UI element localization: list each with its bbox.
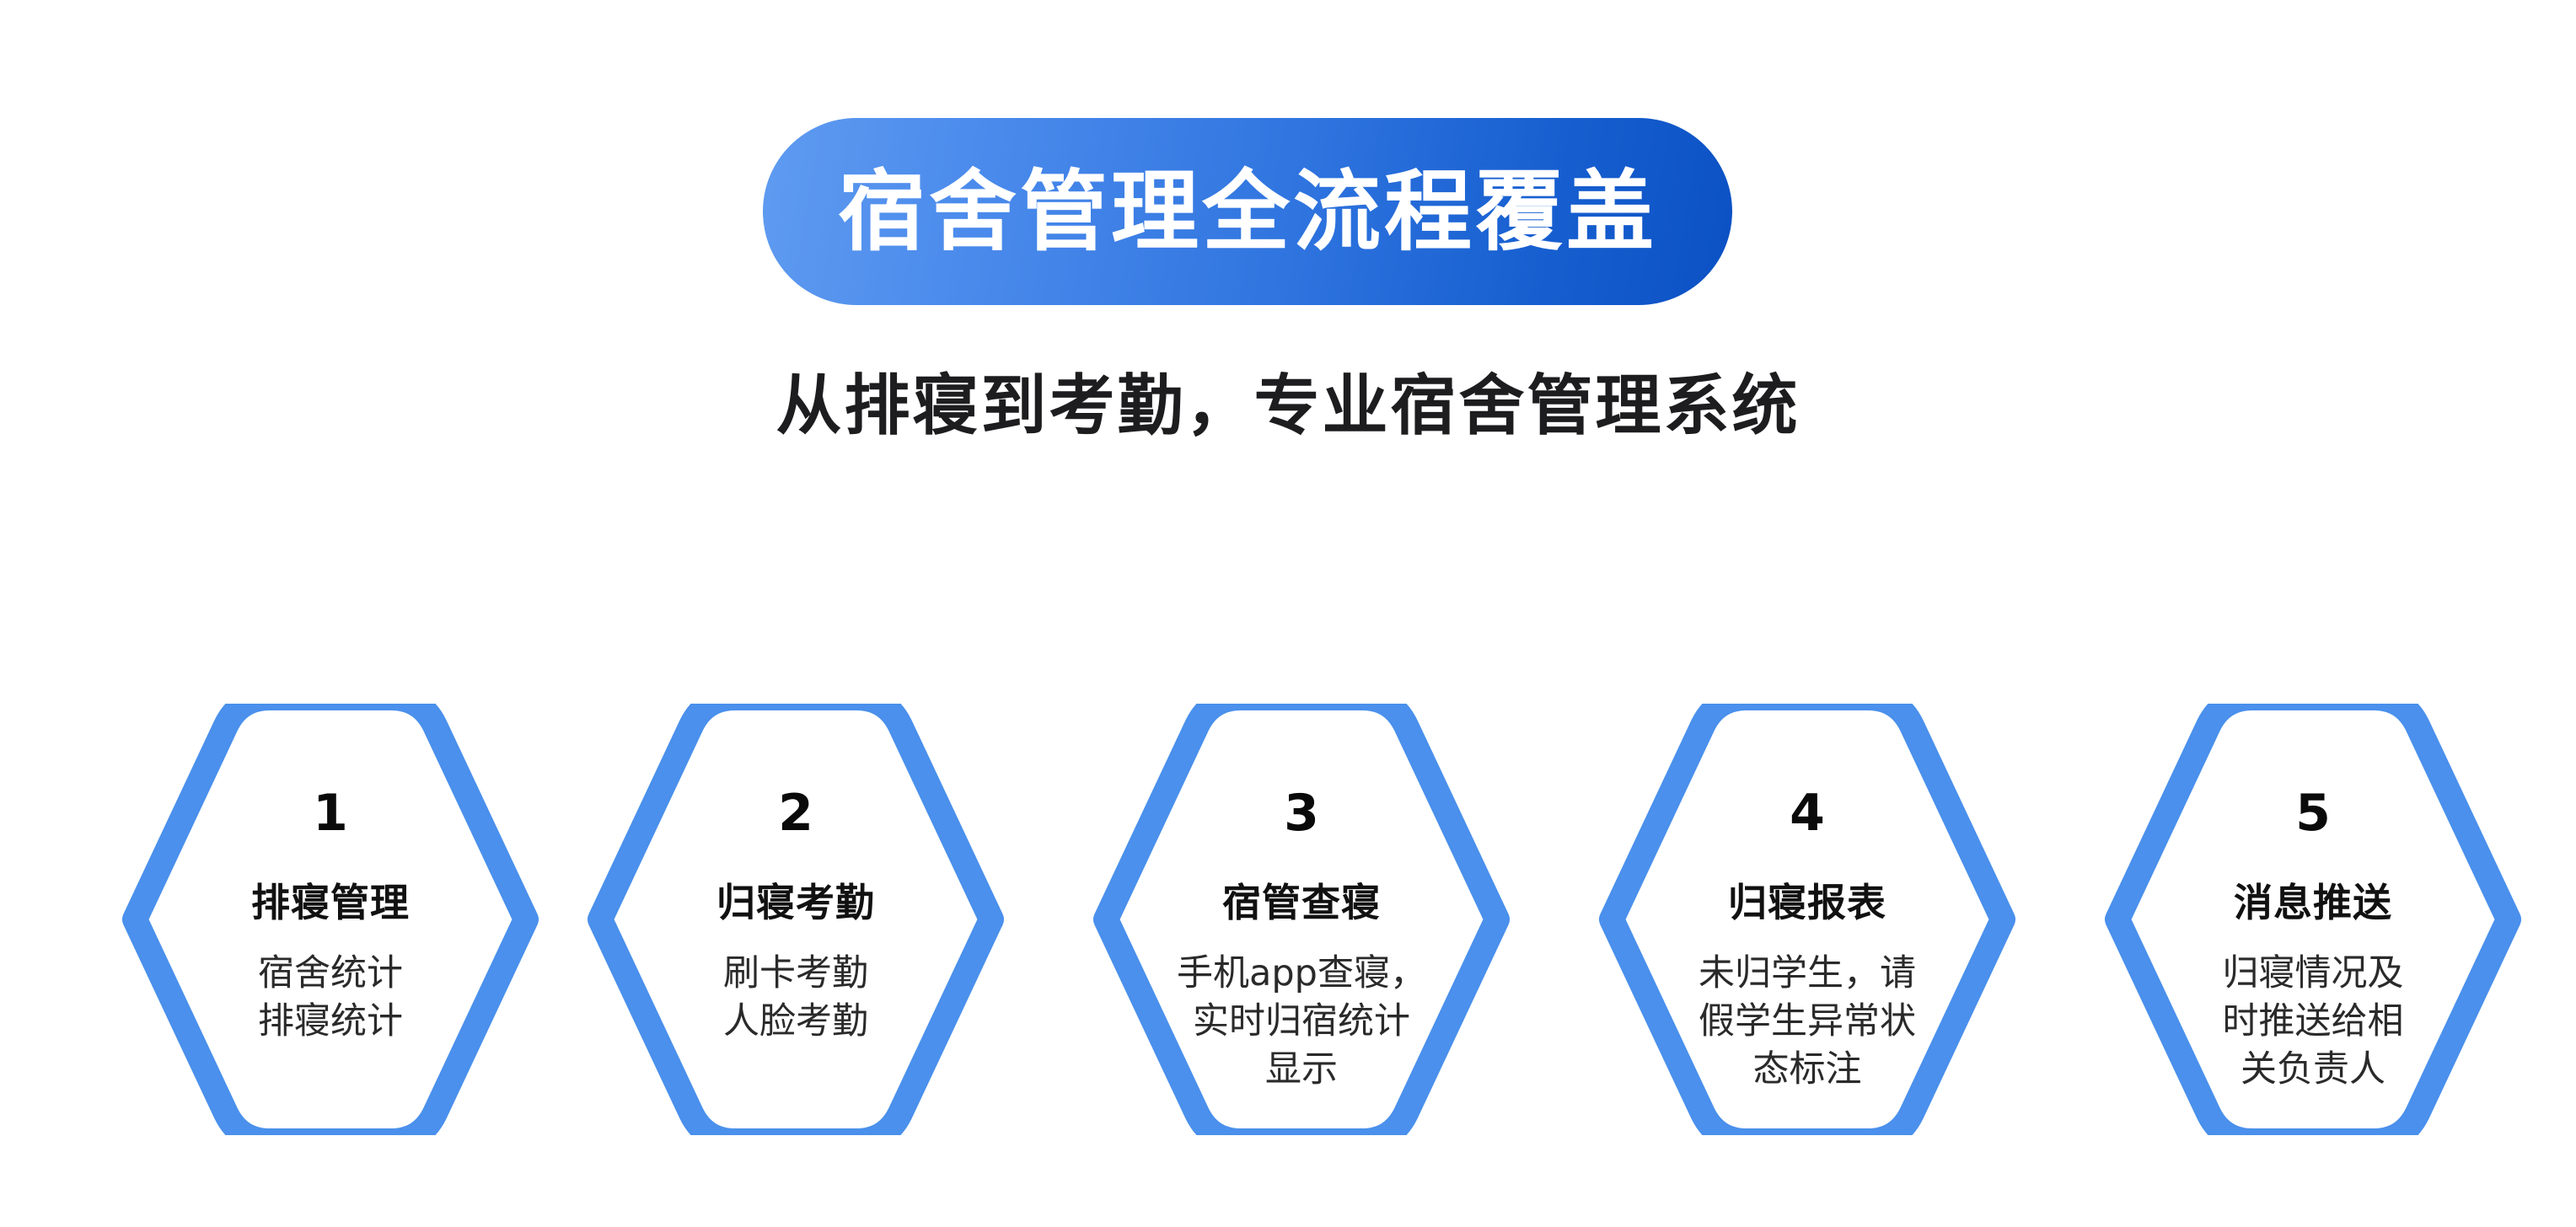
page-title: 宿舍管理全流程覆盖 [838, 168, 1657, 255]
step-desc-line: 手机app查寝， [1177, 950, 1426, 998]
infographic-page: 宿舍管理全流程覆盖 从排寝到考勤，专业宿舍管理系统 1 排寝管理 宿舍统计 排寝… [0, 0, 2576, 1227]
step-desc-5: 归寝情况及 时推送给相 关负责人 [2223, 950, 2404, 1093]
step-content-4: 4 归寝报表 未归学生，请 假学生异常状 态标注 [1565, 704, 2049, 1135]
step-content-1: 1 排寝管理 宿舍统计 排寝统计 [89, 704, 572, 1135]
step-hexagon-5[interactable]: 5 消息推送 归寝情况及 时推送给相 关负责人 [2071, 704, 2555, 1135]
step-title-4: 归寝报表 [1728, 882, 1886, 923]
step-number-5: 5 [2295, 788, 2331, 839]
step-desc-line: 未归学生，请 [1699, 950, 1916, 998]
step-title-2: 归寝考勤 [716, 882, 875, 923]
step-desc-line: 刷卡考勤 [723, 950, 868, 998]
step-desc-line: 归寝情况及 [2223, 950, 2404, 998]
step-number-2: 2 [778, 788, 813, 839]
title-banner: 宿舍管理全流程覆盖 [763, 118, 1732, 305]
step-hexagon-3[interactable]: 3 宿管查寝 手机app查寝， 实时归宿统计 显示 [1060, 704, 1543, 1135]
step-desc-3: 手机app查寝， 实时归宿统计 显示 [1177, 950, 1426, 1093]
step-title-5: 消息推送 [2234, 882, 2392, 923]
step-number-1: 1 [313, 788, 348, 839]
step-desc-2: 刷卡考勤 人脸考勤 [723, 950, 868, 1046]
step-desc-1: 宿舍统计 排寝统计 [258, 950, 403, 1046]
step-hexagon-2[interactable]: 2 归寝考勤 刷卡考勤 人脸考勤 [554, 704, 1038, 1135]
steps-row: 1 排寝管理 宿舍统计 排寝统计 2 归寝考勤 刷卡考勤 人脸考勤 [0, 704, 2576, 1142]
step-desc-line: 宿舍统计 [258, 950, 403, 998]
step-title-1: 排寝管理 [251, 882, 410, 923]
step-number-3: 3 [1284, 788, 1319, 839]
step-content-3: 3 宿管查寝 手机app查寝， 实时归宿统计 显示 [1060, 704, 1543, 1135]
step-desc-line: 显示 [1177, 1046, 1426, 1094]
step-desc-line: 假学生异常状 [1699, 998, 1916, 1046]
step-desc-line: 排寝统计 [258, 998, 403, 1046]
step-hexagon-4[interactable]: 4 归寝报表 未归学生，请 假学生异常状 态标注 [1565, 704, 2049, 1135]
step-desc-line: 态标注 [1699, 1046, 1916, 1094]
step-desc-line: 时推送给相 [2223, 998, 2404, 1046]
step-desc-line: 关负责人 [2223, 1046, 2404, 1094]
step-desc-line: 实时归宿统计 [1177, 998, 1426, 1046]
step-desc-4: 未归学生，请 假学生异常状 态标注 [1699, 950, 1916, 1093]
step-hexagon-1[interactable]: 1 排寝管理 宿舍统计 排寝统计 [89, 704, 572, 1135]
step-number-4: 4 [1790, 788, 1825, 839]
step-content-2: 2 归寝考勤 刷卡考勤 人脸考勤 [554, 704, 1038, 1135]
step-title-3: 宿管查寝 [1222, 882, 1381, 923]
step-content-5: 5 消息推送 归寝情况及 时推送给相 关负责人 [2071, 704, 2555, 1135]
page-subtitle: 从排寝到考勤，专业宿舍管理系统 [0, 371, 2576, 443]
step-desc-line: 人脸考勤 [723, 998, 868, 1046]
